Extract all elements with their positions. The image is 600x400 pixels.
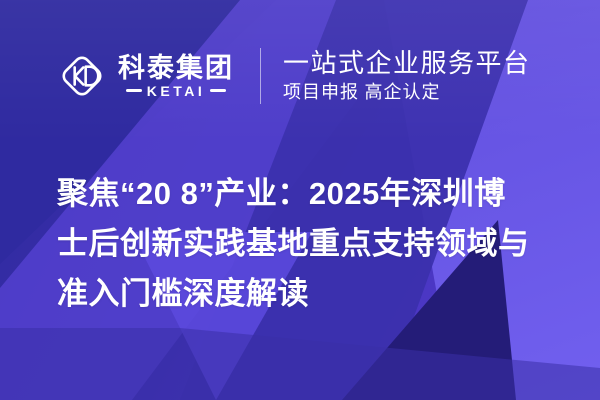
- page-title-line-3: 准入门槛深度解读: [57, 269, 562, 319]
- ketai-diamond-monogram-icon: [56, 50, 108, 102]
- brand-wordmark: 科泰集团 KETAI: [118, 55, 234, 98]
- brand-logo: 科泰集团 KETAI: [56, 50, 234, 102]
- tagline-primary: 一站式企业服务平台: [283, 50, 531, 77]
- page-title: 聚焦“20 8”产业：2025年深圳博 士后创新实践基地重点支持领域与 准入门槛…: [57, 169, 562, 320]
- page-title-line-2: 士后创新实践基地重点支持领域与: [57, 219, 562, 269]
- tagline-secondary: 项目申报 高企认定: [283, 83, 531, 102]
- promo-banner: 科泰集团 KETAI 一站式企业服务平台 项目申报 高企认定 聚焦“20 8”产…: [0, 0, 600, 400]
- header-divider: [260, 48, 261, 104]
- brand-header: 科泰集团 KETAI 一站式企业服务平台 项目申报 高企认定: [56, 40, 531, 112]
- wordmark-dash-right-icon: [210, 89, 226, 92]
- brand-tagline: 一站式企业服务平台 项目申报 高企认定: [283, 50, 531, 101]
- brand-wordmark-cn: 科泰集团: [118, 55, 234, 82]
- page-title-line-1: 聚焦“20 8”产业：2025年深圳博: [57, 169, 562, 219]
- brand-wordmark-en-row: KETAI: [118, 84, 234, 98]
- wordmark-dash-left-icon: [126, 89, 142, 92]
- brand-wordmark-en: KETAI: [147, 84, 205, 98]
